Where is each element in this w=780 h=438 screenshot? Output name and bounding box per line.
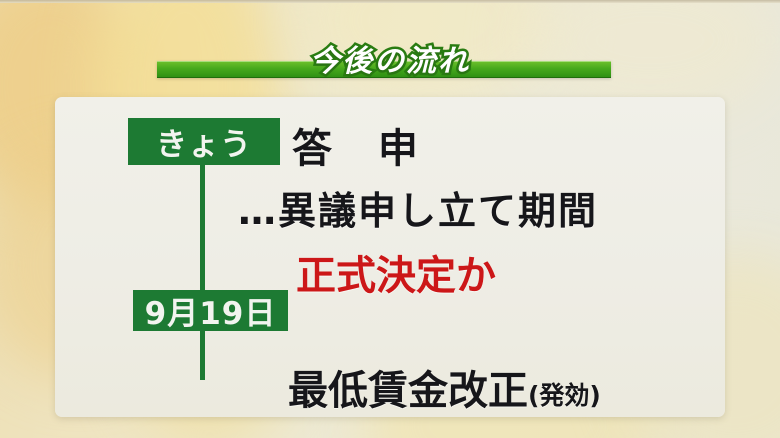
timeline-connector-line — [200, 150, 205, 380]
timeline-heading-official-decision: 正式決定か — [296, 243, 496, 301]
page-title: 今後の流れ — [0, 36, 780, 80]
graphic-stage: 今後の流れ きょう 答 申 …異議申し立て期間 9月19日 正式決定か 来年1月… — [0, 0, 780, 438]
date-chip-today: きょう — [128, 118, 280, 165]
timeline-heading-toushin: 答 申 — [292, 116, 434, 174]
timeline-heading-minimum-wage-revision: 最低賃金改正(発効) — [288, 358, 601, 416]
heading-suffix-text: (発効) — [528, 381, 601, 410]
heading-main-text: 最低賃金改正 — [288, 368, 528, 414]
timeline-heading-objection-period: …異議申し立て期間 — [238, 180, 598, 235]
date-chip-sep19: 9月19日 — [133, 290, 288, 331]
top-border-line — [0, 0, 780, 3]
